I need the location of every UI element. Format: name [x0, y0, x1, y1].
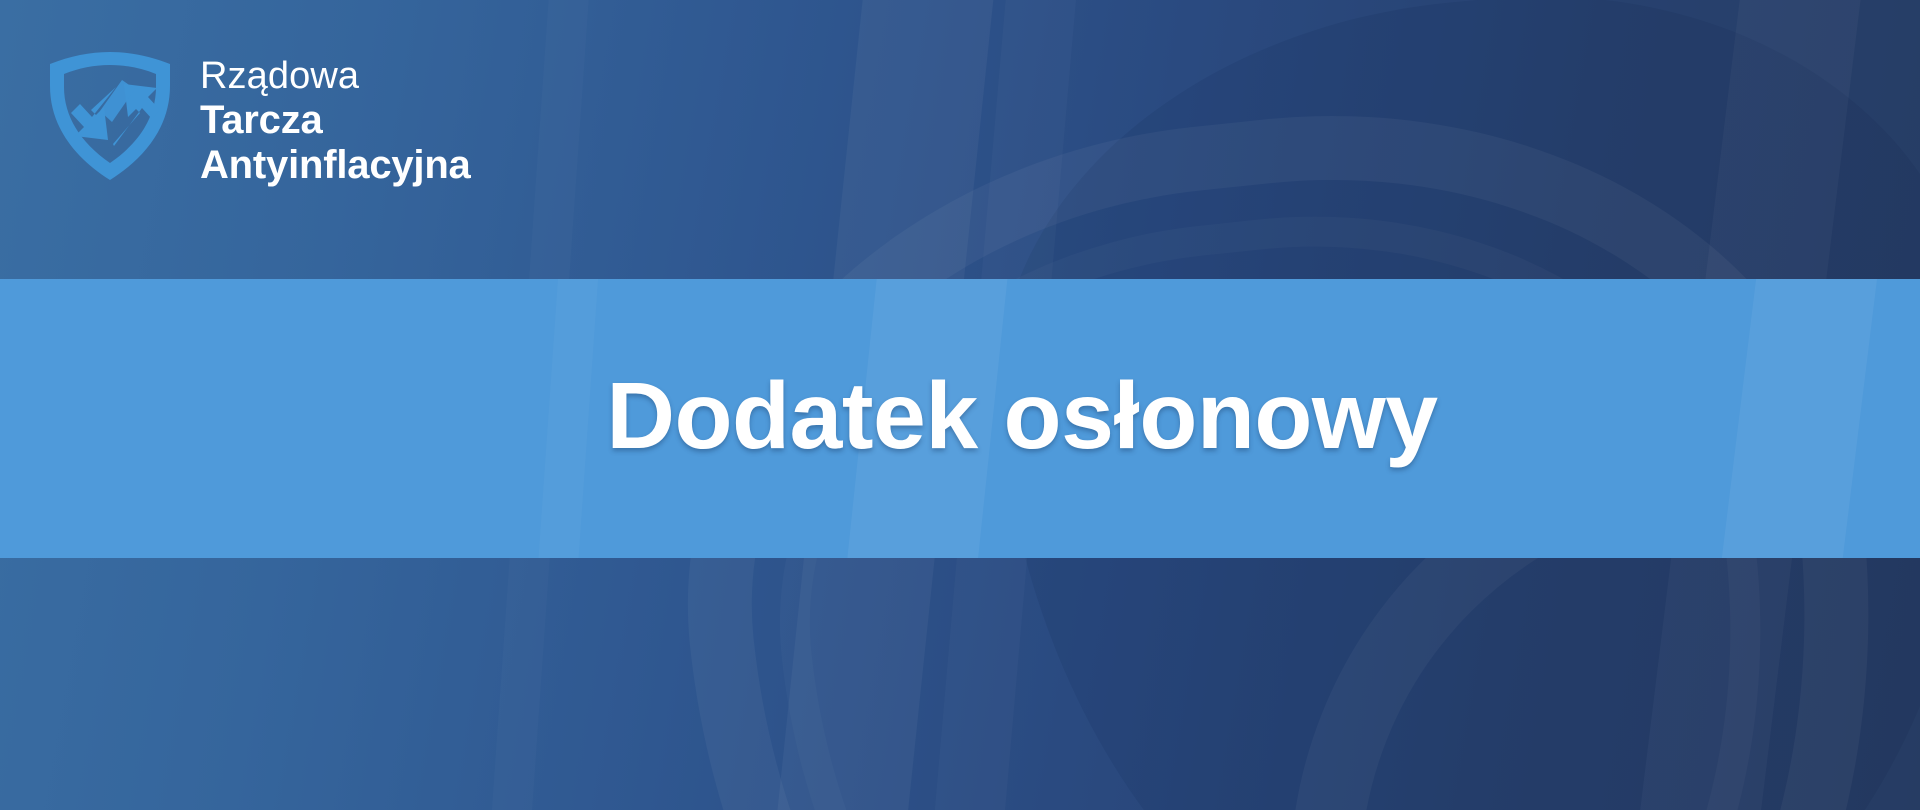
brand-line-antyinflacyjna: Antyinflacyjna — [200, 143, 471, 188]
brand-line-rzadowa: Rządowa — [200, 54, 471, 98]
brand-line-tarcza: Tarcza — [200, 98, 471, 143]
brand-logo: Rządowa Tarcza Antyinflacyjna — [48, 50, 471, 188]
brand-logo-text: Rządowa Tarcza Antyinflacyjna — [200, 50, 471, 188]
headline-band: Dodatek osłonowy — [0, 279, 1920, 558]
page-title: Dodatek osłonowy — [0, 361, 1920, 471]
shield-arrows-logo-icon — [48, 50, 172, 180]
banner-graphic: Rządowa Tarcza Antyinflacyjna Dodatek os… — [0, 0, 1920, 810]
